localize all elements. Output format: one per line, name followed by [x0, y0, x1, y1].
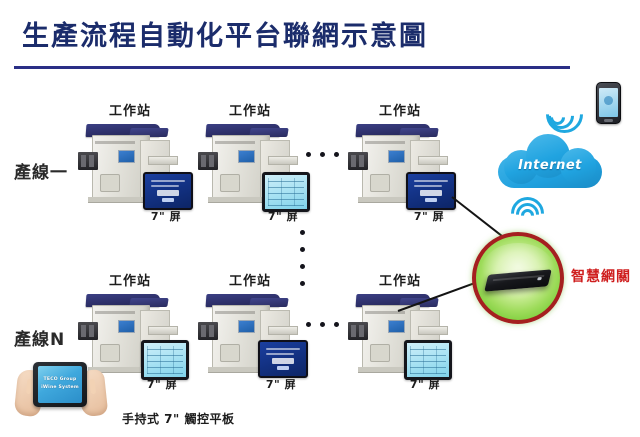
machine-vent: [370, 344, 390, 362]
machine-load-modules: [78, 152, 98, 170]
machine-load-modules: [198, 322, 218, 340]
machine-load-modules: [348, 152, 368, 170]
workstation-1-screen[interactable]: [143, 172, 193, 210]
machine-label-stripe: [215, 141, 255, 144]
machine-transfer-arm: [148, 326, 178, 335]
page-title: 生產流程自動化平台聯網示意圖: [22, 14, 428, 53]
machine-vent: [220, 344, 240, 362]
handheld-tablet-caption: 手持式 7" 觸控平板: [122, 410, 234, 427]
workstation-2-screen[interactable]: [262, 172, 310, 212]
workstation-4-caption: 工作站: [78, 270, 182, 289]
workstation-6-screen-caption: 7" 屏: [393, 376, 457, 392]
workstation-5-screen-caption: 7" 屏: [249, 376, 313, 392]
machine-base: [208, 197, 270, 203]
workstation-2-screen-caption: 7" 屏: [251, 208, 315, 224]
gateway-label: 智慧網關: [571, 266, 631, 286]
machine-control-panel: [388, 150, 405, 163]
workstation-3-screen[interactable]: [406, 172, 456, 210]
workstation-1-screen-caption: 7" 屏: [134, 208, 198, 224]
row-label-line-1: 產線一: [14, 158, 68, 183]
machine-base: [88, 197, 150, 203]
wifi-signal-gateway-icon: [508, 192, 542, 218]
machine-vent: [100, 174, 120, 192]
machine-control-panel: [238, 320, 255, 333]
machine-load-modules: [348, 322, 368, 340]
internet-cloud: Internet: [498, 132, 602, 194]
machine-control-panel: [118, 150, 135, 163]
machine-label-stripe: [95, 311, 135, 314]
workstation-3-screen-caption: 7" 屏: [397, 208, 461, 224]
machine-load-modules: [78, 322, 98, 340]
title-divider: [14, 66, 570, 69]
gateway-led-icon: [537, 277, 542, 280]
workstation-4-screen[interactable]: [141, 340, 189, 380]
workstation-6-caption: 工作站: [348, 270, 452, 289]
machine-vent: [220, 174, 240, 192]
handheld-tablet[interactable]: TECO Group iWine System: [12, 358, 110, 420]
machine-transfer-arm: [418, 326, 448, 335]
tablet-screen[interactable]: TECO Group iWine System: [38, 366, 82, 403]
workstation-5-caption: 工作站: [198, 270, 302, 289]
machine-transfer-arm: [148, 156, 178, 165]
machine-load-modules: [198, 152, 218, 170]
tablet-screen-line1: TECO Group: [38, 377, 82, 382]
machine-transfer-arm: [268, 326, 298, 335]
smart-gateway[interactable]: [472, 232, 564, 324]
machine-label-stripe: [365, 141, 405, 144]
smartphone[interactable]: [596, 82, 621, 124]
machine-label-stripe: [95, 141, 135, 144]
workstation-2-caption: 工作站: [198, 100, 302, 119]
tablet-screen-line2: iWine System: [38, 385, 82, 390]
wifi-signal-phone-icon: [548, 92, 582, 122]
machine-control-panel: [388, 320, 405, 333]
workstation-1-caption: 工作站: [78, 100, 182, 119]
workstation-6-screen[interactable]: [404, 340, 452, 380]
machine-control-panel: [238, 150, 255, 163]
machine-vent: [370, 174, 390, 192]
workstation-5-screen[interactable]: [258, 340, 308, 378]
machine-transfer-arm: [268, 156, 298, 165]
machine-transfer-arm: [418, 156, 448, 165]
row-label-line-n: 產線N: [14, 325, 65, 350]
smartphone-home-button[interactable]: [604, 119, 613, 122]
machine-label-stripe: [215, 311, 255, 314]
tablet-device[interactable]: TECO Group iWine System: [33, 362, 87, 407]
workstation-3-caption: 工作站: [348, 100, 452, 119]
cloud-label: Internet: [498, 158, 602, 173]
diagram-canvas: 生產流程自動化平台聯網示意圖 產線一 產線N 工作站 7" 屏 工作站: [0, 0, 640, 437]
workstation-4-screen-caption: 7" 屏: [130, 376, 194, 392]
smartphone-screen[interactable]: [599, 88, 618, 117]
machine-control-panel: [118, 320, 135, 333]
